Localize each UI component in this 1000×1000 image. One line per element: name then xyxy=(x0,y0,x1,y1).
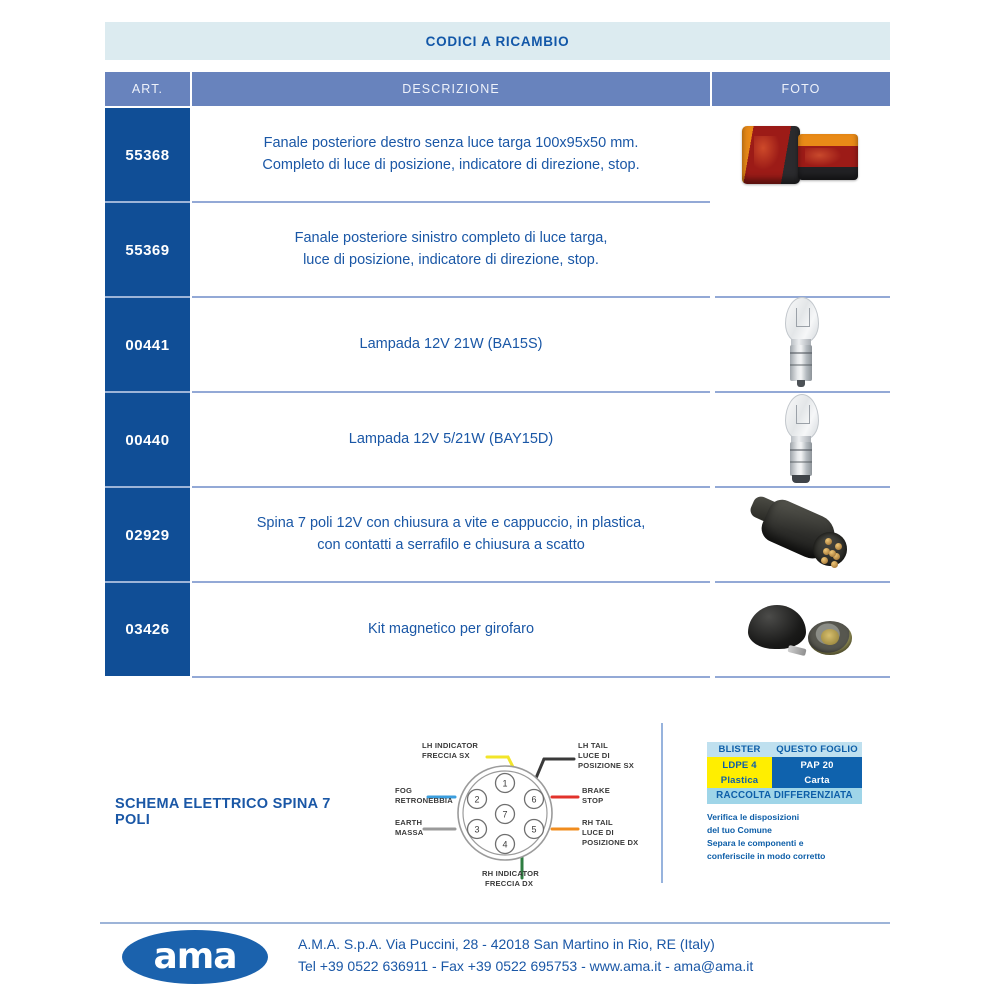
description-line: Kit magnetico per girofaro xyxy=(368,619,534,641)
art-code: 03426 xyxy=(125,621,169,638)
description-line: Lampada 12V 21W (BA15S) xyxy=(360,334,543,356)
description-line: Lampada 12V 5/21W (BAY15D) xyxy=(349,429,553,451)
footer-contact-line: Tel +39 0522 636911 - Fax +39 0522 69575… xyxy=(298,956,898,978)
description-line: Fanale posteriore destro senza luce targ… xyxy=(264,133,639,155)
column-header-descrizione: DESCRIZIONE xyxy=(192,72,710,106)
description-line: Completo di luce di posizione, indicator… xyxy=(262,155,639,177)
art-code: 00440 xyxy=(125,432,169,449)
pin-6-label: STOP xyxy=(582,796,603,805)
section-divider xyxy=(661,723,663,883)
table-row: 55369 xyxy=(105,203,190,297)
pin-3-label: MASSA xyxy=(395,828,424,837)
row-divider xyxy=(715,676,890,678)
pin-3-label: EARTH xyxy=(395,818,422,827)
row-photo xyxy=(712,488,890,582)
footer-contact-info: A.M.A. S.p.A. Via Puccini, 28 - 42018 Sa… xyxy=(298,934,898,977)
row-photo xyxy=(712,388,890,492)
pin-4-label: FRECCIA DX xyxy=(485,879,533,886)
table-body: 55368 Fanale posteriore destro senza luc… xyxy=(105,108,890,676)
row-photo xyxy=(712,583,890,676)
row-photo xyxy=(712,108,890,202)
pin-6-label: BRAKE xyxy=(582,786,610,795)
wiring-diagram-7pin: 1 2 3 4 5 6 7 LH INDICATOR FRECCIA SX FO… xyxy=(392,736,654,886)
column-header-art: ART. xyxy=(105,72,190,106)
pin-5-label: LUCE DI xyxy=(582,828,614,837)
pin-5-label: RH TAIL xyxy=(582,818,613,827)
bulb-single-filament-photo xyxy=(778,297,824,389)
art-code: 55369 xyxy=(125,242,169,259)
schema-elettrico-label: SCHEMA ELETTRICO SPINA 7 POLI xyxy=(115,796,365,828)
table-row: 00440 xyxy=(105,393,190,487)
row-divider xyxy=(192,676,710,678)
page-title-bar: CODICI A RICAMBIO xyxy=(105,22,890,60)
footer-address-line: A.M.A. S.p.A. Via Puccini, 28 - 42018 Sa… xyxy=(298,934,898,956)
recycling-note-line: Verifica le disposizioni xyxy=(707,811,862,824)
art-code: 00441 xyxy=(125,337,169,354)
recycling-material-left: Plastica xyxy=(707,773,772,788)
pin-5-label: POSIZIONE DX xyxy=(582,838,638,847)
pin-6-number: 6 xyxy=(531,795,536,805)
table-row: 00441 xyxy=(105,298,190,392)
bulb-twin-filament-photo xyxy=(778,394,824,486)
recycling-row: LDPE 4 PAP 20 xyxy=(707,757,862,772)
table-row: 02929 xyxy=(105,488,190,582)
description-line: con contatti a serrafilo e chiusura a sc… xyxy=(317,535,585,557)
pin-4-number: 4 xyxy=(502,840,507,850)
description-line: Fanale posteriore sinistro completo di l… xyxy=(295,228,608,250)
row-description: Lampada 12V 5/21W (BAY15D) xyxy=(192,393,710,487)
recycling-material-right: PAP 20 xyxy=(772,757,862,772)
pin-4-label: RH INDICATOR xyxy=(482,869,539,878)
magnet-kit-photo xyxy=(746,599,856,661)
recycling-footer-row: RACCOLTA DIFFERENZIATA xyxy=(707,788,862,803)
description-line: luce di posizione, indicatore di direzio… xyxy=(303,250,599,272)
recycling-footer-text: RACCOLTA DIFFERENZIATA xyxy=(707,788,862,803)
pin-2-label: RETRONEBBIA xyxy=(395,796,453,805)
row-description: Spina 7 poli 12V con chiusura a vite e c… xyxy=(192,488,710,582)
pin-7-label: LH TAIL xyxy=(578,741,608,750)
pin-1-label: LH INDICATOR xyxy=(422,741,478,750)
pin-1-number: 1 xyxy=(502,779,507,789)
pin-2-label: FOG xyxy=(395,786,412,795)
recycling-header-left: BLISTER xyxy=(707,742,772,757)
recycling-note: Verifica le disposizioni del tuo Comune … xyxy=(707,811,862,863)
row-description: Lampada 12V 21W (BA15S) xyxy=(192,298,710,392)
pin-7-label: POSIZIONE SX xyxy=(578,761,634,770)
pin-5-number: 5 xyxy=(531,825,536,835)
recycling-material-left: LDPE 4 xyxy=(707,757,772,772)
table-header-row: ART. DESCRIZIONE FOTO xyxy=(105,72,890,106)
pin-7-number: 7 xyxy=(502,810,507,820)
pin-3-number: 3 xyxy=(474,825,479,835)
pin-2-number: 2 xyxy=(474,795,479,805)
footer-divider xyxy=(100,922,890,924)
ama-logo: ama xyxy=(122,930,268,984)
table-row: 03426 xyxy=(105,583,190,676)
row-description: Fanale posteriore sinistro completo di l… xyxy=(192,203,710,297)
column-header-foto: FOTO xyxy=(712,72,890,106)
row-description: Kit magnetico per girofaro xyxy=(192,583,710,676)
ama-logo-text: ama xyxy=(153,939,236,975)
recycling-note-line: del tuo Comune xyxy=(707,824,862,837)
rear-lamp-pair-photo xyxy=(742,124,860,186)
recycling-label: BLISTER QUESTO FOGLIO LDPE 4 PAP 20 Plas… xyxy=(707,742,862,863)
plug-7pin-photo xyxy=(747,494,855,576)
page-title: CODICI A RICAMBIO xyxy=(426,34,570,49)
row-description: Fanale posteriore destro senza luce targ… xyxy=(192,108,710,202)
recycling-header-right: QUESTO FOGLIO xyxy=(772,742,862,757)
row-photo xyxy=(712,288,890,398)
table-row: 55368 xyxy=(105,108,190,202)
recycling-header-row: BLISTER QUESTO FOGLIO xyxy=(707,742,862,757)
art-code: 02929 xyxy=(125,527,169,544)
art-code: 55368 xyxy=(125,147,169,164)
pin-1-label: FRECCIA SX xyxy=(422,751,470,760)
recycling-note-line: Separa le componenti e xyxy=(707,837,862,850)
description-line: Spina 7 poli 12V con chiusura a vite e c… xyxy=(257,513,646,535)
recycling-note-line: conferiscile in modo corretto xyxy=(707,850,862,863)
recycling-material-right: Carta xyxy=(772,773,862,788)
recycling-row: Plastica Carta xyxy=(707,773,862,788)
pin-7-label: LUCE DI xyxy=(578,751,610,760)
catalog-page: CODICI A RICAMBIO ART. DESCRIZIONE FOTO … xyxy=(0,0,1000,1000)
